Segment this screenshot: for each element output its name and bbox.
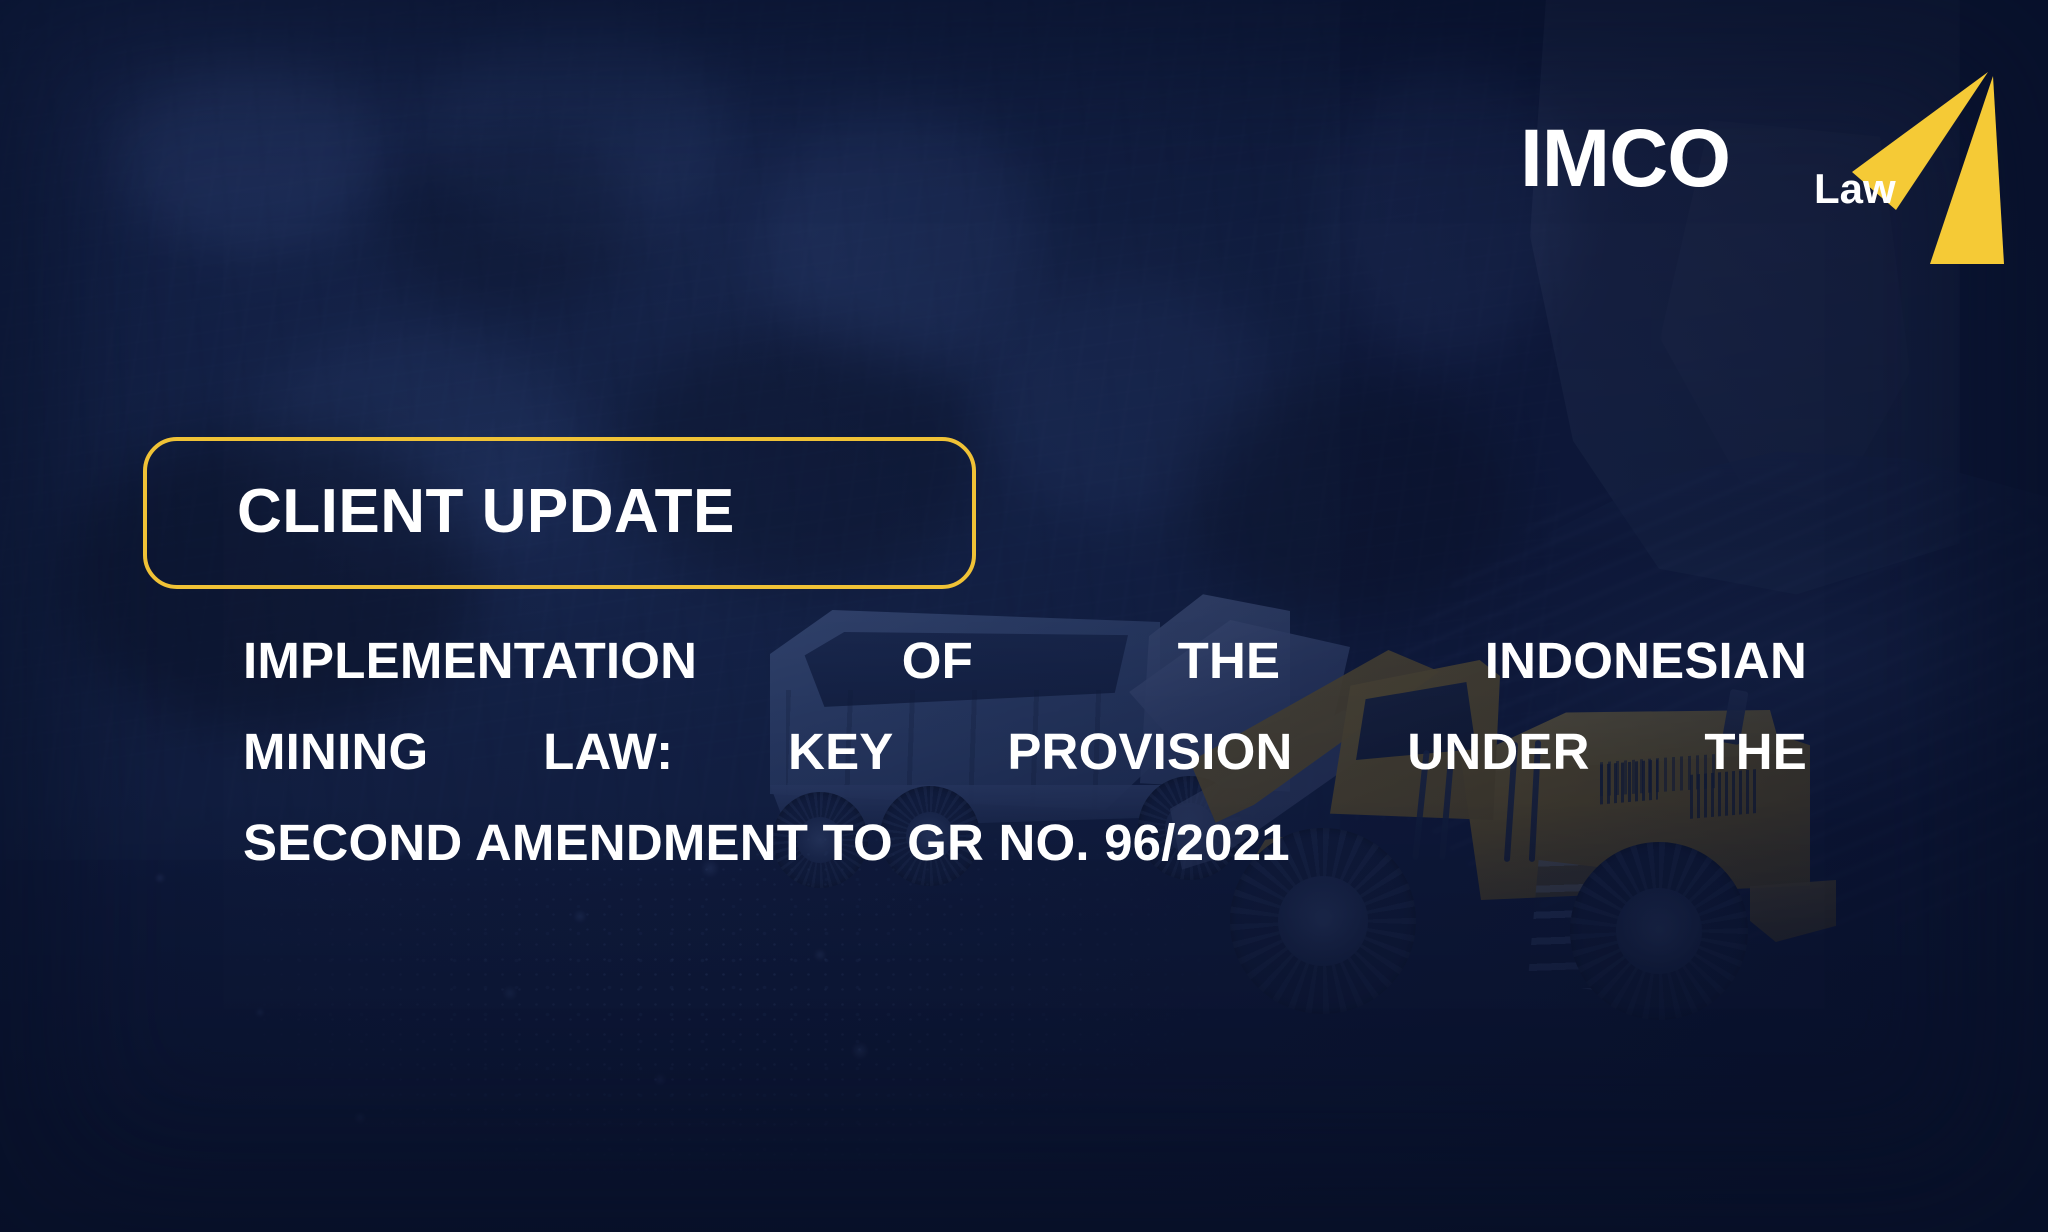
title-line-3: SECOND AMENDMENT TO GR NO. 96/2021 (243, 797, 1807, 888)
page-title: IMPLEMENTATION OF THE INDONESIAN MINING … (243, 615, 1807, 888)
logo-primary-text: IMCO (1520, 118, 1730, 200)
logo-secondary-text: Law (1814, 168, 1896, 210)
client-update-label: CLIENT UPDATE (237, 469, 735, 555)
arrow-checkmark-icon (1792, 64, 2042, 264)
title-line-1: IMPLEMENTATION OF THE INDONESIAN (243, 615, 1807, 706)
logo[interactable]: IMCO Law (1520, 70, 2040, 255)
title-line-2: MINING LAW: KEY PROVISION UNDER THE (243, 706, 1807, 797)
client-update-slide: IMCO Law CLIENT UPDATE IMPLEMENTATION OF… (0, 0, 2048, 1232)
